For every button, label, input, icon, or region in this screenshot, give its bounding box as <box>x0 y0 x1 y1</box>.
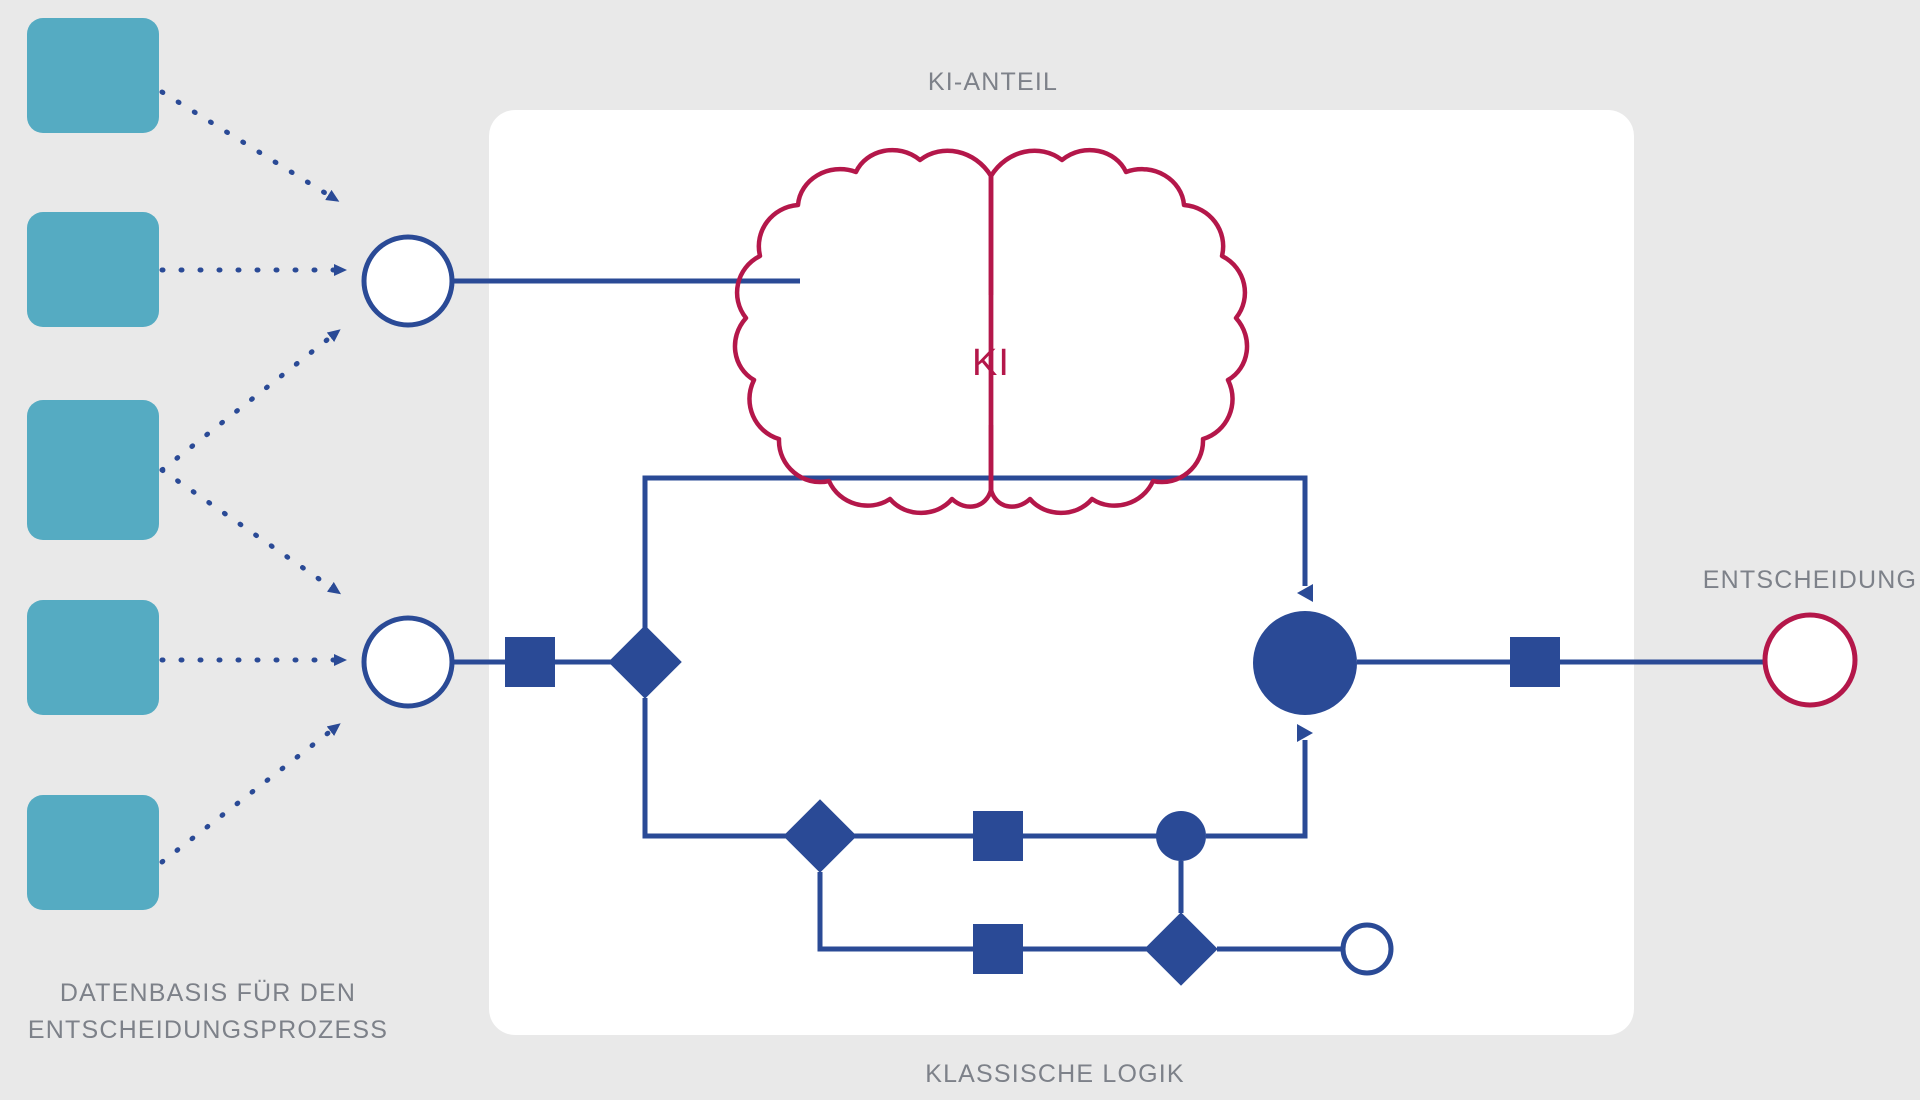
ki-entscheidungsprozess-diagram: KI KI-ANTEIL KLASSISCHE LOGIK ENTSCHEIDU… <box>0 0 1920 1100</box>
label-ki-anteil: KI-ANTEIL <box>928 68 1058 96</box>
brain-label-ki: KI <box>972 342 1010 384</box>
aggregator-node[interactable] <box>1253 611 1357 715</box>
decision-node[interactable] <box>1765 615 1855 705</box>
label-klassische-logik: KLASSISCHE LOGIK <box>925 1060 1185 1088</box>
data-source-box-3[interactable] <box>27 400 159 540</box>
connector-source1-to-ki-node <box>162 92 330 196</box>
diagram-canvas: KI KI-ANTEIL KLASSISCHE LOGIK ENTSCHEIDU… <box>0 0 1920 1100</box>
ki-logik-panel <box>489 110 1634 1035</box>
logic-square-3[interactable] <box>973 924 1023 974</box>
label-datenbasis-line2: ENTSCHEIDUNGSPROZESS <box>28 1016 388 1044</box>
output-square[interactable] <box>1510 637 1560 687</box>
label-entscheidung: ENTSCHEIDUNG <box>1703 566 1917 594</box>
connector-source3-to-logic-node <box>162 470 332 588</box>
logic-square-1[interactable] <box>505 637 555 687</box>
connector-source5-to-logic-node <box>162 730 332 862</box>
connector-source3-to-ki-node <box>162 336 332 470</box>
label-datenbasis-line1: DATENBASIS FÜR DEN <box>60 979 356 1007</box>
data-source-box-5[interactable] <box>27 795 159 910</box>
logic-circle-1[interactable] <box>1156 811 1206 861</box>
logic-terminus-circle[interactable] <box>1343 925 1391 973</box>
data-source-box-1[interactable] <box>27 18 159 133</box>
logic-square-2[interactable] <box>973 811 1023 861</box>
input-node-logic[interactable] <box>364 618 452 706</box>
data-source-box-2[interactable] <box>27 212 159 327</box>
input-node-ki[interactable] <box>364 237 452 325</box>
data-source-box-4[interactable] <box>27 600 159 715</box>
